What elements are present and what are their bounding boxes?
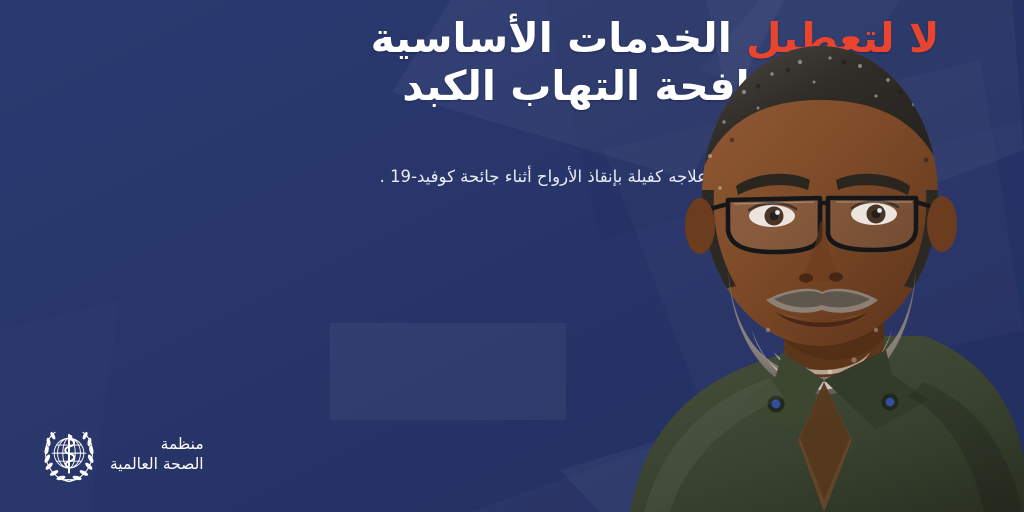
who-hepatitis-banner: لا لتعطيل الخدمات الأساسية لمكافحة التها…: [0, 0, 1024, 512]
subtitle: خدمات الوقاية من التهاب الكبد وعلاجه كفي…: [310, 165, 1000, 189]
who-wordmark-line-1: منظمة: [110, 435, 204, 455]
who-emblem-icon: [38, 424, 100, 486]
who-logo: منظمة الصحة العالمية: [38, 424, 204, 486]
headline: لا لتعطيل الخدمات الأساسية لمكافحة التها…: [310, 14, 1000, 111]
who-wordmark: منظمة الصحة العالمية: [110, 435, 204, 475]
headline-line-1-rest: الخدمات الأساسية: [371, 14, 732, 62]
headline-line-1: لا لتعطيل الخدمات الأساسية: [310, 14, 1000, 62]
who-wordmark-line-2: الصحة العالمية: [110, 455, 204, 475]
headline-line-2: لمكافحة التهاب الكبد: [310, 62, 1000, 110]
headline-accent-text: لا لتعطيل: [746, 14, 939, 62]
